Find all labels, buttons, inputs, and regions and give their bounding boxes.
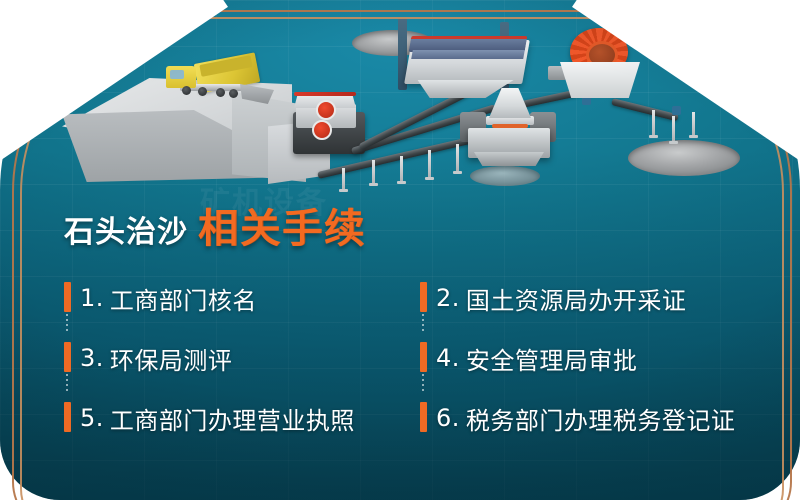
orange-bar-icon <box>420 282 427 312</box>
vibrating-screen-second-deck <box>411 50 525 59</box>
orange-bar-icon <box>64 342 71 372</box>
list-item-label: 工商部门办理营业执照 <box>110 401 355 436</box>
conveyor-support-leg <box>342 168 345 190</box>
production-line-illustration <box>0 0 800 200</box>
list-item-number: 2. <box>436 284 460 312</box>
conveyor-support-leg <box>692 112 695 136</box>
list-item-number: 6. <box>436 404 460 432</box>
orange-bar-icon <box>420 402 427 432</box>
aggregate-stockpile-center <box>470 166 540 186</box>
conveyor-support-leg <box>372 160 375 184</box>
list-item[interactable]: 4. 安全管理局审批 <box>408 328 800 388</box>
aggregate-stockpile-right <box>628 140 740 176</box>
conveyor-support-leg <box>400 156 403 182</box>
list-item[interactable]: 5. 工商部门办理营业执照 <box>0 388 408 448</box>
conveyor-support-leg <box>456 144 459 172</box>
page-title-highlight: 相关手续 <box>198 196 366 254</box>
list-item-label: 税务部门办理税务登记证 <box>466 401 736 436</box>
orange-bar-icon <box>64 282 71 312</box>
truck-wheel <box>229 89 238 98</box>
truck-wheel <box>182 86 191 95</box>
list-item-label: 环保局测评 <box>110 341 233 376</box>
conveyor-support-leg <box>652 110 655 136</box>
list-item[interactable]: 2. 国土资源局办开采证 <box>408 268 800 328</box>
list-item-number: 1. <box>80 284 104 312</box>
page-title-prefix: 石头治沙 <box>64 207 188 251</box>
conveyor-support-leg <box>428 150 431 178</box>
list-item-number: 5. <box>80 404 104 432</box>
conveyor-support-leg <box>672 116 675 142</box>
conveyor-head-pulley <box>672 106 681 115</box>
list-item-label: 国土资源局办开采证 <box>466 281 687 316</box>
infographic-poster: 矿机设备 石头治沙 相关手续 1. 工商部门核名 2. 国土资源局办开采证 3.… <box>0 0 800 500</box>
vsi-orange-trim <box>492 124 528 128</box>
list-item-label: 安全管理局审批 <box>466 341 638 376</box>
jaw-crusher-red-trim <box>294 92 356 96</box>
vsi-base-frame <box>474 152 544 166</box>
list-item-number: 4. <box>436 344 460 372</box>
truck-wheel <box>216 88 225 97</box>
truck-windshield <box>170 70 184 79</box>
list-item[interactable]: 6. 税务部门办理税务登记证 <box>408 388 800 448</box>
page-title: 石头治沙 相关手续 <box>64 196 366 254</box>
sand-washer-tub <box>560 62 640 98</box>
list-item[interactable]: 1. 工商部门核名 <box>0 268 408 328</box>
orange-bar-icon <box>420 342 427 372</box>
orange-bar-icon <box>64 402 71 432</box>
list-item-number: 3. <box>80 344 104 372</box>
conveyor-belt-washer-out <box>611 98 679 121</box>
procedure-checklist: 1. 工商部门核名 2. 国土资源局办开采证 3. 环保局测评 4. 安全管理局… <box>0 268 800 448</box>
jaw-crusher-flywheel <box>312 120 332 140</box>
list-item[interactable]: 3. 环保局测评 <box>0 328 408 388</box>
truck-wheel <box>198 87 207 96</box>
jaw-crusher-flywheel <box>316 100 336 120</box>
list-item-label: 工商部门核名 <box>110 281 257 316</box>
